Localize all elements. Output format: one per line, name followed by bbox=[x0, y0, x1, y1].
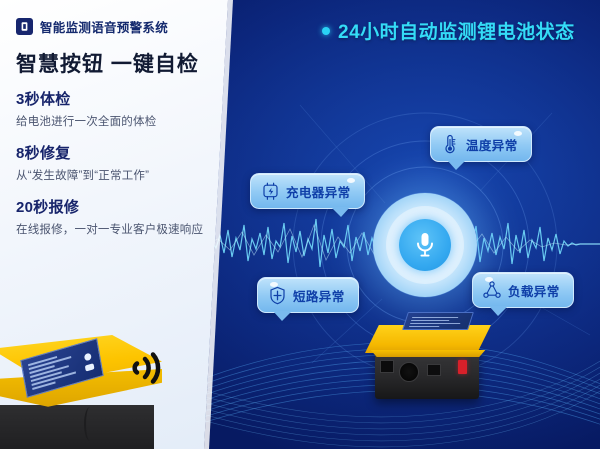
feature-desc-3: 在线报修，一对一专业客户极速响应 bbox=[16, 221, 203, 237]
feature-title-3: 20秒报修 bbox=[16, 196, 203, 217]
device-switch bbox=[427, 364, 441, 376]
feature-item-1: 3秒体检 给电池进行一次全面的体检 bbox=[16, 88, 156, 129]
bullet-dot-icon bbox=[322, 27, 330, 35]
feature-item-2: 8秒修复 从“发生故障”到“正常工作” bbox=[16, 142, 149, 183]
poster-canvas: 24小时自动监测锂电池状态 温度异常 充电器异常 bbox=[0, 0, 600, 449]
battery-strap-right bbox=[84, 407, 96, 441]
load-network-icon bbox=[483, 279, 501, 301]
battery-body bbox=[0, 405, 154, 449]
alert-bubble-charger[interactable]: 充电器异常 bbox=[250, 173, 365, 209]
device-port-left bbox=[380, 360, 394, 373]
alert-label-temperature: 温度异常 bbox=[466, 135, 518, 154]
battery-square-logo-icon bbox=[16, 18, 33, 35]
device-vent bbox=[399, 362, 419, 382]
bubble-highlight bbox=[514, 131, 522, 136]
feature-title-1: 3秒体检 bbox=[16, 88, 156, 109]
alert-label-charger: 充电器异常 bbox=[286, 182, 351, 201]
device-label-panel bbox=[402, 312, 474, 330]
right-panel-title: 24小时自动监测锂电池状态 bbox=[322, 17, 575, 44]
device-red-button bbox=[458, 360, 467, 374]
voice-monitor-orb[interactable] bbox=[373, 193, 477, 297]
feature-title-2: 8秒修复 bbox=[16, 142, 149, 163]
feature-desc-2: 从“发生故障”到“正常工作” bbox=[16, 167, 149, 183]
bubble-highlight bbox=[270, 282, 278, 287]
alert-label-load: 负载异常 bbox=[508, 281, 560, 300]
charger-plug-icon bbox=[261, 180, 279, 202]
alert-bubble-temperature[interactable]: 温度异常 bbox=[430, 126, 532, 162]
device-front-lip bbox=[367, 350, 489, 357]
shield-icon bbox=[268, 284, 286, 306]
right-title-text: 24小时自动监测锂电池状态 bbox=[338, 17, 575, 44]
page-title: 智慧按钮 一键自检 bbox=[16, 48, 199, 78]
feature-item-3: 20秒报修 在线报修，一对一专业客户极速响应 bbox=[16, 196, 203, 237]
battery-box-device bbox=[361, 300, 497, 400]
brand-name: 智能监测语音预警系统 bbox=[40, 17, 168, 36]
alert-bubble-short-circuit[interactable]: 短路异常 bbox=[257, 277, 359, 313]
bubble-highlight bbox=[485, 277, 493, 282]
thermometer-icon bbox=[441, 133, 459, 155]
orb-core bbox=[399, 219, 451, 271]
sound-wave-icon bbox=[128, 348, 168, 388]
alert-label-short-circuit: 短路异常 bbox=[293, 286, 345, 305]
brand-lockup: 智能监测语音预警系统 bbox=[16, 17, 168, 36]
feature-desc-1: 给电池进行一次全面的体检 bbox=[16, 113, 156, 129]
bubble-highlight bbox=[347, 178, 355, 183]
microphone-icon bbox=[414, 231, 436, 259]
